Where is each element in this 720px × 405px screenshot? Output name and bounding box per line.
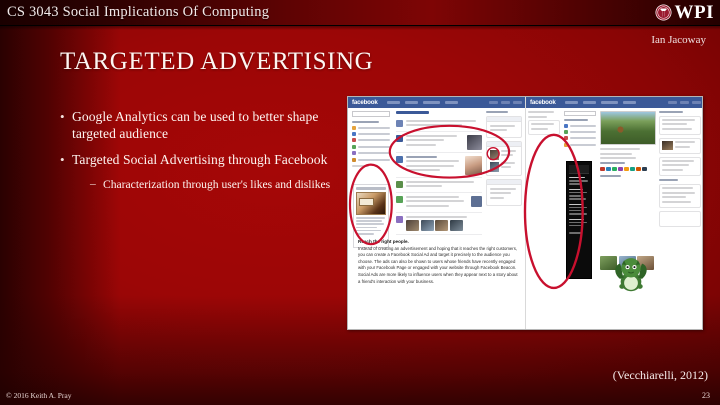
page-title: TARGETED ADVERTISING [60,48,373,76]
course-title: CS 3043 Social Implications Of Computing [0,4,269,21]
bullet-text: Targeted Social Advertising through Face… [72,151,327,168]
bullet-text: Google Analytics can be used to better s… [72,108,340,142]
news-feed-column [396,111,482,235]
facebook-nav-items [556,101,636,104]
sub-bullet-text: Characterization through user's likes an… [103,177,330,192]
callout-body: Instead of creating an advertisement and… [358,246,518,286]
info-card [659,184,701,208]
profile-cover-photo [600,111,656,145]
list-item: • Google Analytics can be used to better… [58,108,340,142]
sidebar-item[interactable] [352,145,390,149]
facebook-top-nav: facebook [348,97,525,108]
profile-left-nav [564,119,596,149]
info-card [659,138,701,153]
rail-card[interactable] [486,116,522,138]
feed-post[interactable] [396,193,482,213]
feed-post-sponsored[interactable] [396,153,482,178]
sidebar-item[interactable] [564,124,596,128]
facebook-profile-pane: facebook [526,97,703,330]
info-card [659,157,701,177]
facebook-news-feed-pane: facebook [348,97,526,330]
rail-card[interactable] [486,179,522,206]
sidebar-item[interactable] [352,138,390,142]
facebook-nav-items [378,101,458,104]
advertisement-copy [356,217,386,235]
author-name: Ian Jacoway [651,34,706,46]
nav-item-networks[interactable] [423,101,440,104]
sub-list-item: – Characterization through user's likes … [90,177,340,192]
right-column-advertisement[interactable] [566,161,592,279]
sidebar-item[interactable] [564,143,596,147]
nav-item-inbox[interactable] [445,101,458,104]
advertisement-logo [569,165,589,174]
advertisement-image [356,192,386,215]
facebook-feed-body: Reach the right people. Instead of creat… [348,108,525,330]
profile-main-column [600,111,656,180]
nav-item-profile[interactable] [387,101,400,104]
profile-far-left-strip [528,111,560,138]
sidebar-item[interactable] [352,158,390,162]
dragon-mascot-icon [610,254,652,294]
feed-post-photos[interactable] [396,213,482,235]
facebook-account-links[interactable] [489,101,522,104]
sidebar-item[interactable] [564,130,596,134]
sidebar-item[interactable] [352,151,390,155]
page-number: 23 [702,391,710,400]
citation: (Vecchiarelli, 2012) [613,368,708,383]
wpi-brand: WPI [655,3,720,22]
callout-heading: Reach the right people. [358,239,518,244]
bullet-list: • Google Analytics can be used to better… [58,108,340,192]
info-card [659,116,701,136]
nav-item-friends[interactable] [583,101,596,104]
reach-the-right-people-callout: Reach the right people. Instead of creat… [358,239,518,285]
wpi-wordmark: WPI [675,3,715,22]
nav-item-inbox[interactable] [623,101,636,104]
search-input[interactable] [564,111,596,116]
facebook-logo: facebook [348,99,378,106]
feed-post[interactable] [396,178,482,193]
facebook-profile-body [526,108,703,330]
photo-thumbnail-strip[interactable] [406,220,482,231]
sidebar-item[interactable] [564,136,596,140]
copyright-notice: © 2016 Keith A. Pray [6,391,72,400]
search-input[interactable] [352,111,390,117]
sidebar-item[interactable] [352,126,390,130]
facebook-screenshot-figure: facebook [347,96,703,330]
sidebar-item[interactable] [352,132,390,136]
facebook-logo: facebook [526,99,556,106]
facebook-account-links[interactable] [668,101,701,104]
list-item: • Targeted Social Advertising through Fa… [58,151,340,168]
profile-app-icons[interactable] [600,167,656,172]
bullet-marker: • [58,151,72,168]
nav-item-friends[interactable] [405,101,418,104]
slide-header-bar: CS 3043 Social Implications Of Computing… [0,0,720,26]
feed-post[interactable] [396,117,482,132]
nav-item-profile[interactable] [565,101,578,104]
comment-box[interactable] [659,211,701,227]
feed-post[interactable] [396,132,482,153]
nav-item-networks[interactable] [601,101,618,104]
presentation-slide: CS 3043 Social Implications Of Computing… [0,0,720,405]
bullet-marker: • [58,108,72,142]
right-rail-column [486,111,522,209]
profile-info-column [659,111,701,230]
wpi-seal-icon [655,4,672,21]
rail-card[interactable] [486,141,522,176]
facebook-top-nav: facebook [526,97,703,108]
rail-card[interactable] [528,120,560,135]
left-sidebar-nav [352,121,390,169]
sub-bullet-marker: – [90,177,103,192]
